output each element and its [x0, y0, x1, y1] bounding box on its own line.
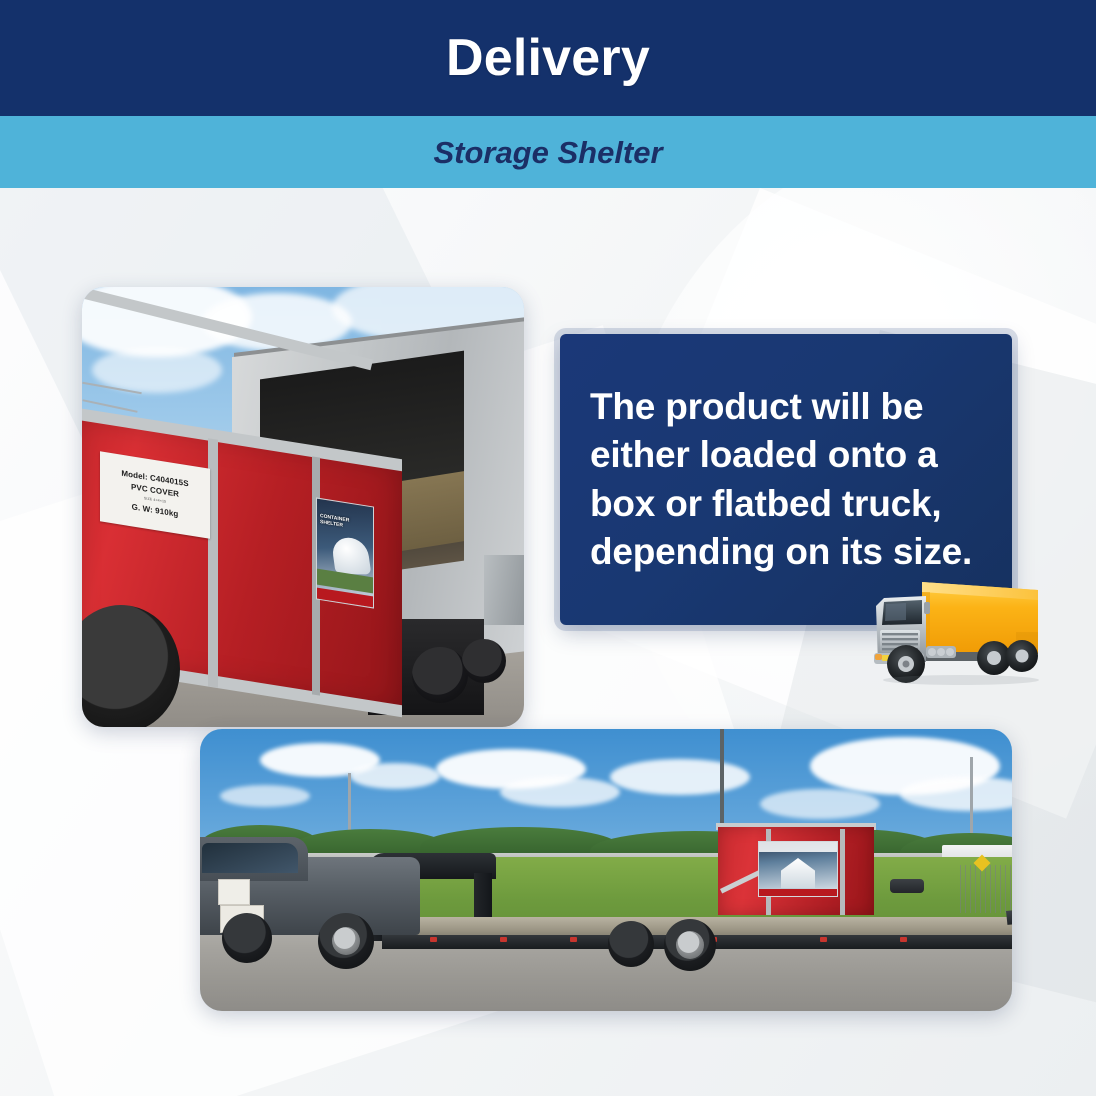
photo-flatbed-trailer: [200, 729, 1012, 1011]
pickup-wheel-rim: [332, 927, 360, 955]
header-title-band: Delivery: [0, 0, 1096, 116]
truck-cab-far: [484, 555, 524, 625]
truck-wheel: [412, 647, 468, 703]
header-subtitle-band: Storage Shelter: [0, 116, 1096, 188]
container-shelter-poster: [758, 841, 838, 897]
page-subtitle: Storage Shelter: [433, 137, 662, 168]
photo-box-truck-loading: Model: C404015S PVC COVER SIZE 4×4×15 G.…: [82, 287, 524, 727]
cloud-shape: [350, 763, 440, 789]
poster-title: CONTAINER SHELTER: [320, 513, 373, 533]
trailer-marker-light: [570, 937, 577, 942]
trailer-marker-light: [900, 937, 907, 942]
poster-shelter-illustration: [331, 537, 372, 574]
trailer-marker-light: [430, 937, 437, 942]
poster-shelter-illustration: [781, 858, 815, 888]
box-truck-icon: [866, 562, 1048, 686]
crate-frame-post: [840, 829, 845, 915]
poster-header-strip: [759, 842, 837, 852]
utility-pole: [720, 729, 724, 833]
crate-label-weight: G. W: 910kg: [132, 502, 179, 521]
door-decal: [218, 879, 250, 905]
trailer-marker-light: [820, 937, 827, 942]
trailer-tire: [608, 921, 654, 967]
cloud-shape: [760, 789, 880, 819]
chain-link-fence: [960, 865, 1012, 913]
cloud-shape: [500, 777, 620, 807]
container-shelter-poster: CONTAINER SHELTER: [316, 497, 374, 608]
trailer-marker-light: [500, 937, 507, 942]
delivery-slide: Delivery Storage Shelter Model: C404015S…: [0, 0, 1096, 1096]
page-title: Delivery: [446, 32, 650, 84]
cloud-shape: [610, 759, 750, 795]
truck-wheel: [462, 639, 506, 683]
pickup-window-glass: [202, 843, 298, 873]
poster-footer-bar: [759, 889, 837, 896]
trailer-wheel-rim: [676, 931, 704, 959]
background-parked-car: [890, 879, 924, 893]
pickup-tire: [222, 913, 272, 963]
message-text: The product will be either loaded onto a…: [560, 383, 1012, 575]
cloud-shape: [220, 785, 310, 807]
